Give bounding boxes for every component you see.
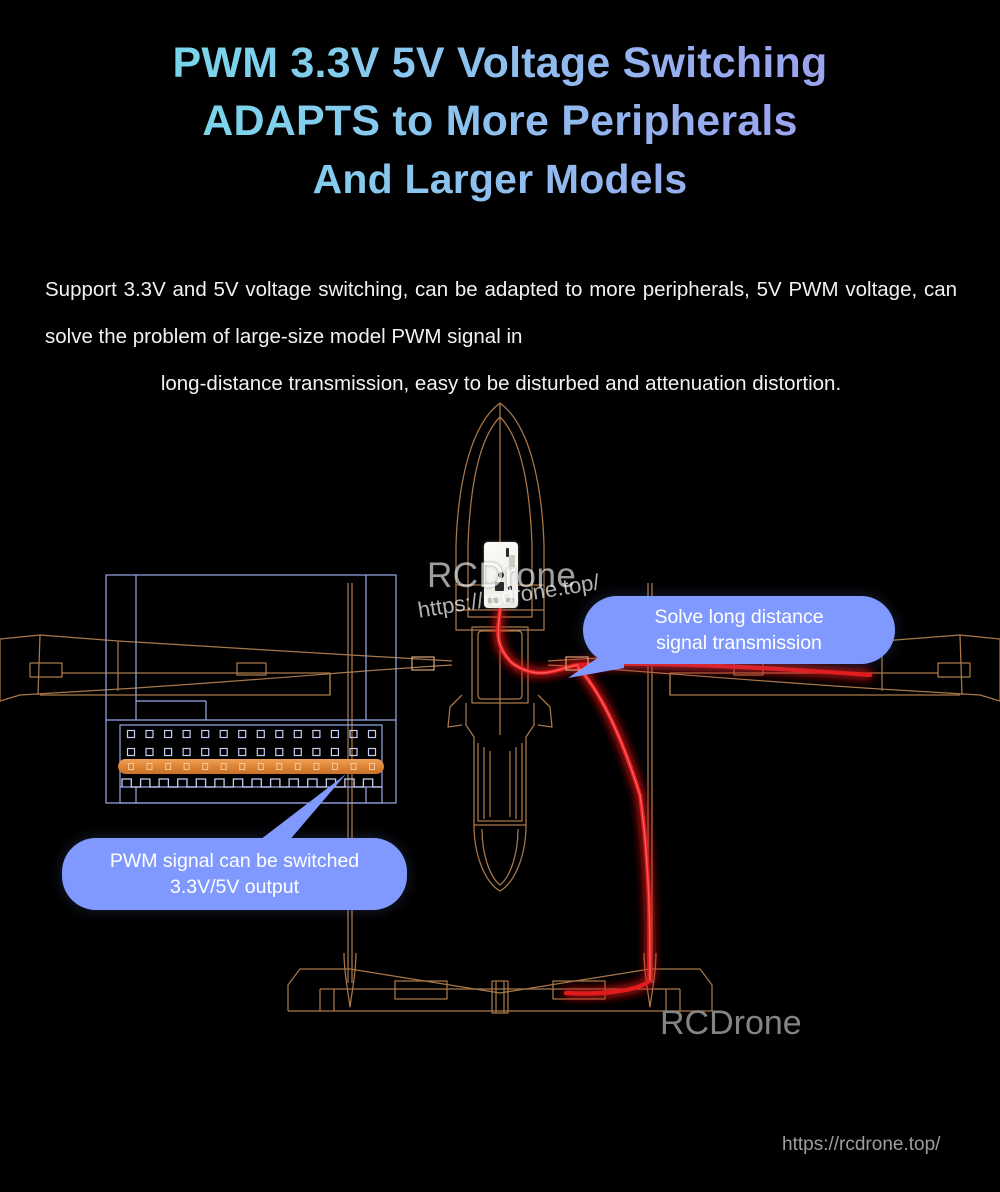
page-root: PWM 3.3V 5V Voltage Switching ADAPTS to … (0, 0, 1000, 1192)
title-line-2: ADAPTS to More Peripherals (0, 92, 1000, 150)
callout-solve-long-distance-text: Solve long distance signal transmission (640, 604, 837, 656)
signal-wire-harness (498, 610, 870, 993)
callout-pwm-switch-output-text: PWM signal can be switched 3.3V/5V outpu… (96, 848, 373, 900)
description-line-1: Support 3.3V and 5V voltage switching, c… (45, 278, 782, 301)
aircraft-wireframe (0, 403, 1000, 1013)
title-line-3: And Larger Models (0, 150, 1000, 208)
title-line-1: PWM 3.3V 5V Voltage Switching (0, 34, 1000, 92)
pwm-waveform (122, 779, 382, 787)
pin-pad-grid (128, 731, 376, 756)
pwm-module-photo (484, 542, 518, 608)
callout-solve-long-distance[interactable]: Solve long distance signal transmission (583, 596, 895, 664)
callout-pwm-switch-output[interactable]: PWM signal can be switched 3.3V/5V outpu… (62, 838, 407, 910)
diagram-stage (0, 395, 1000, 1075)
pin-header-connector (118, 759, 384, 774)
description-paragraph: Support 3.3V and 5V voltage switching, c… (45, 266, 957, 407)
watermark-footer-url: https://rcdrone.top/ (782, 1134, 940, 1156)
page-title: PWM 3.3V 5V Voltage Switching ADAPTS to … (0, 34, 1000, 208)
